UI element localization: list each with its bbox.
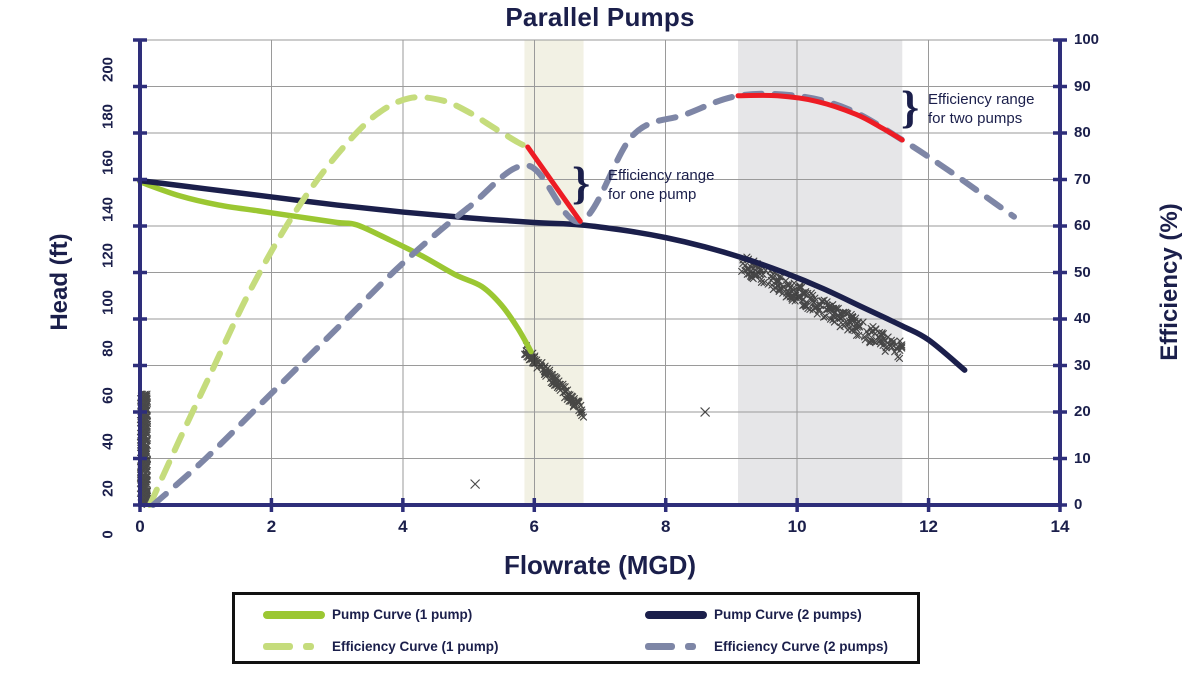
y-axis-right-tick-label: 100 bbox=[1074, 31, 1124, 48]
legend-item-3[interactable]: Efficiency Curve (2 pumps) bbox=[645, 639, 888, 654]
y-axis-right-tick-label: 0 bbox=[1074, 496, 1124, 513]
one-pump-brace: } bbox=[572, 160, 590, 206]
one-pump-annotation-line2: for one pump bbox=[608, 185, 714, 204]
y-axis-right-tick-label: 90 bbox=[1074, 78, 1124, 95]
legend-item-0[interactable]: Pump Curve (1 pump) bbox=[263, 607, 472, 622]
y-axis-left-label: Head (ft) bbox=[46, 182, 74, 382]
y-axis-right-tick-label: 40 bbox=[1074, 310, 1124, 327]
one-pump-annotation-line1: Efficiency range bbox=[608, 166, 714, 185]
two-pump-annotation-line1: Efficiency range bbox=[928, 90, 1034, 109]
x-axis-label: Flowrate (MGD) bbox=[0, 550, 1200, 581]
legend-label: Efficiency Curve (2 pumps) bbox=[714, 639, 888, 654]
legend-swatch-dashed bbox=[645, 643, 707, 650]
two-pump-annotation-line2: for two pumps bbox=[928, 109, 1034, 128]
two-pump-annotation: Efficiency range for two pumps bbox=[928, 90, 1034, 128]
y-axis-left-tick-label: 200 bbox=[100, 40, 117, 100]
x-axis-tick-label: 12 bbox=[909, 517, 949, 537]
y-axis-right-tick-label: 10 bbox=[1074, 450, 1124, 467]
legend-label: Pump Curve (1 pump) bbox=[332, 607, 472, 622]
one-pump-annotation: Efficiency range for one pump bbox=[608, 166, 714, 204]
y-axis-right-tick-label: 80 bbox=[1074, 124, 1124, 141]
x-axis-tick-label: 8 bbox=[646, 517, 686, 537]
legend-item-1[interactable]: Pump Curve (2 pumps) bbox=[645, 607, 862, 622]
y-axis-right-tick-label: 70 bbox=[1074, 171, 1124, 188]
x-axis-tick-label: 2 bbox=[251, 517, 291, 537]
y-axis-right-tick-label: 30 bbox=[1074, 357, 1124, 374]
series-line-2 bbox=[150, 97, 528, 505]
chart-canvas: Parallel Pumps Head (ft) Efficiency (%) … bbox=[0, 0, 1200, 675]
y-axis-right-tick-label: 20 bbox=[1074, 403, 1124, 420]
x-axis-tick-label: 6 bbox=[514, 517, 554, 537]
y-axis-right-tick-label: 50 bbox=[1074, 264, 1124, 281]
x-axis-tick-label: 14 bbox=[1040, 517, 1080, 537]
legend-swatch-solid bbox=[645, 611, 707, 619]
x-axis-tick-label: 10 bbox=[777, 517, 817, 537]
legend-item-2[interactable]: Efficiency Curve (1 pump) bbox=[263, 639, 499, 654]
y-axis-right-tick-label: 60 bbox=[1074, 217, 1124, 234]
legend-label: Pump Curve (2 pumps) bbox=[714, 607, 862, 622]
two-pump-brace: } bbox=[901, 84, 919, 130]
legend-label: Efficiency Curve (1 pump) bbox=[332, 639, 499, 654]
legend-swatch-solid bbox=[263, 611, 325, 619]
y-axis-right-label: Efficiency (%) bbox=[1156, 167, 1184, 397]
legend-swatch-dashed bbox=[263, 643, 325, 650]
x-axis-tick-label: 4 bbox=[383, 517, 423, 537]
x-axis-tick-label: 0 bbox=[120, 517, 160, 537]
legend: Pump Curve (1 pump)Pump Curve (2 pumps)E… bbox=[232, 592, 920, 664]
